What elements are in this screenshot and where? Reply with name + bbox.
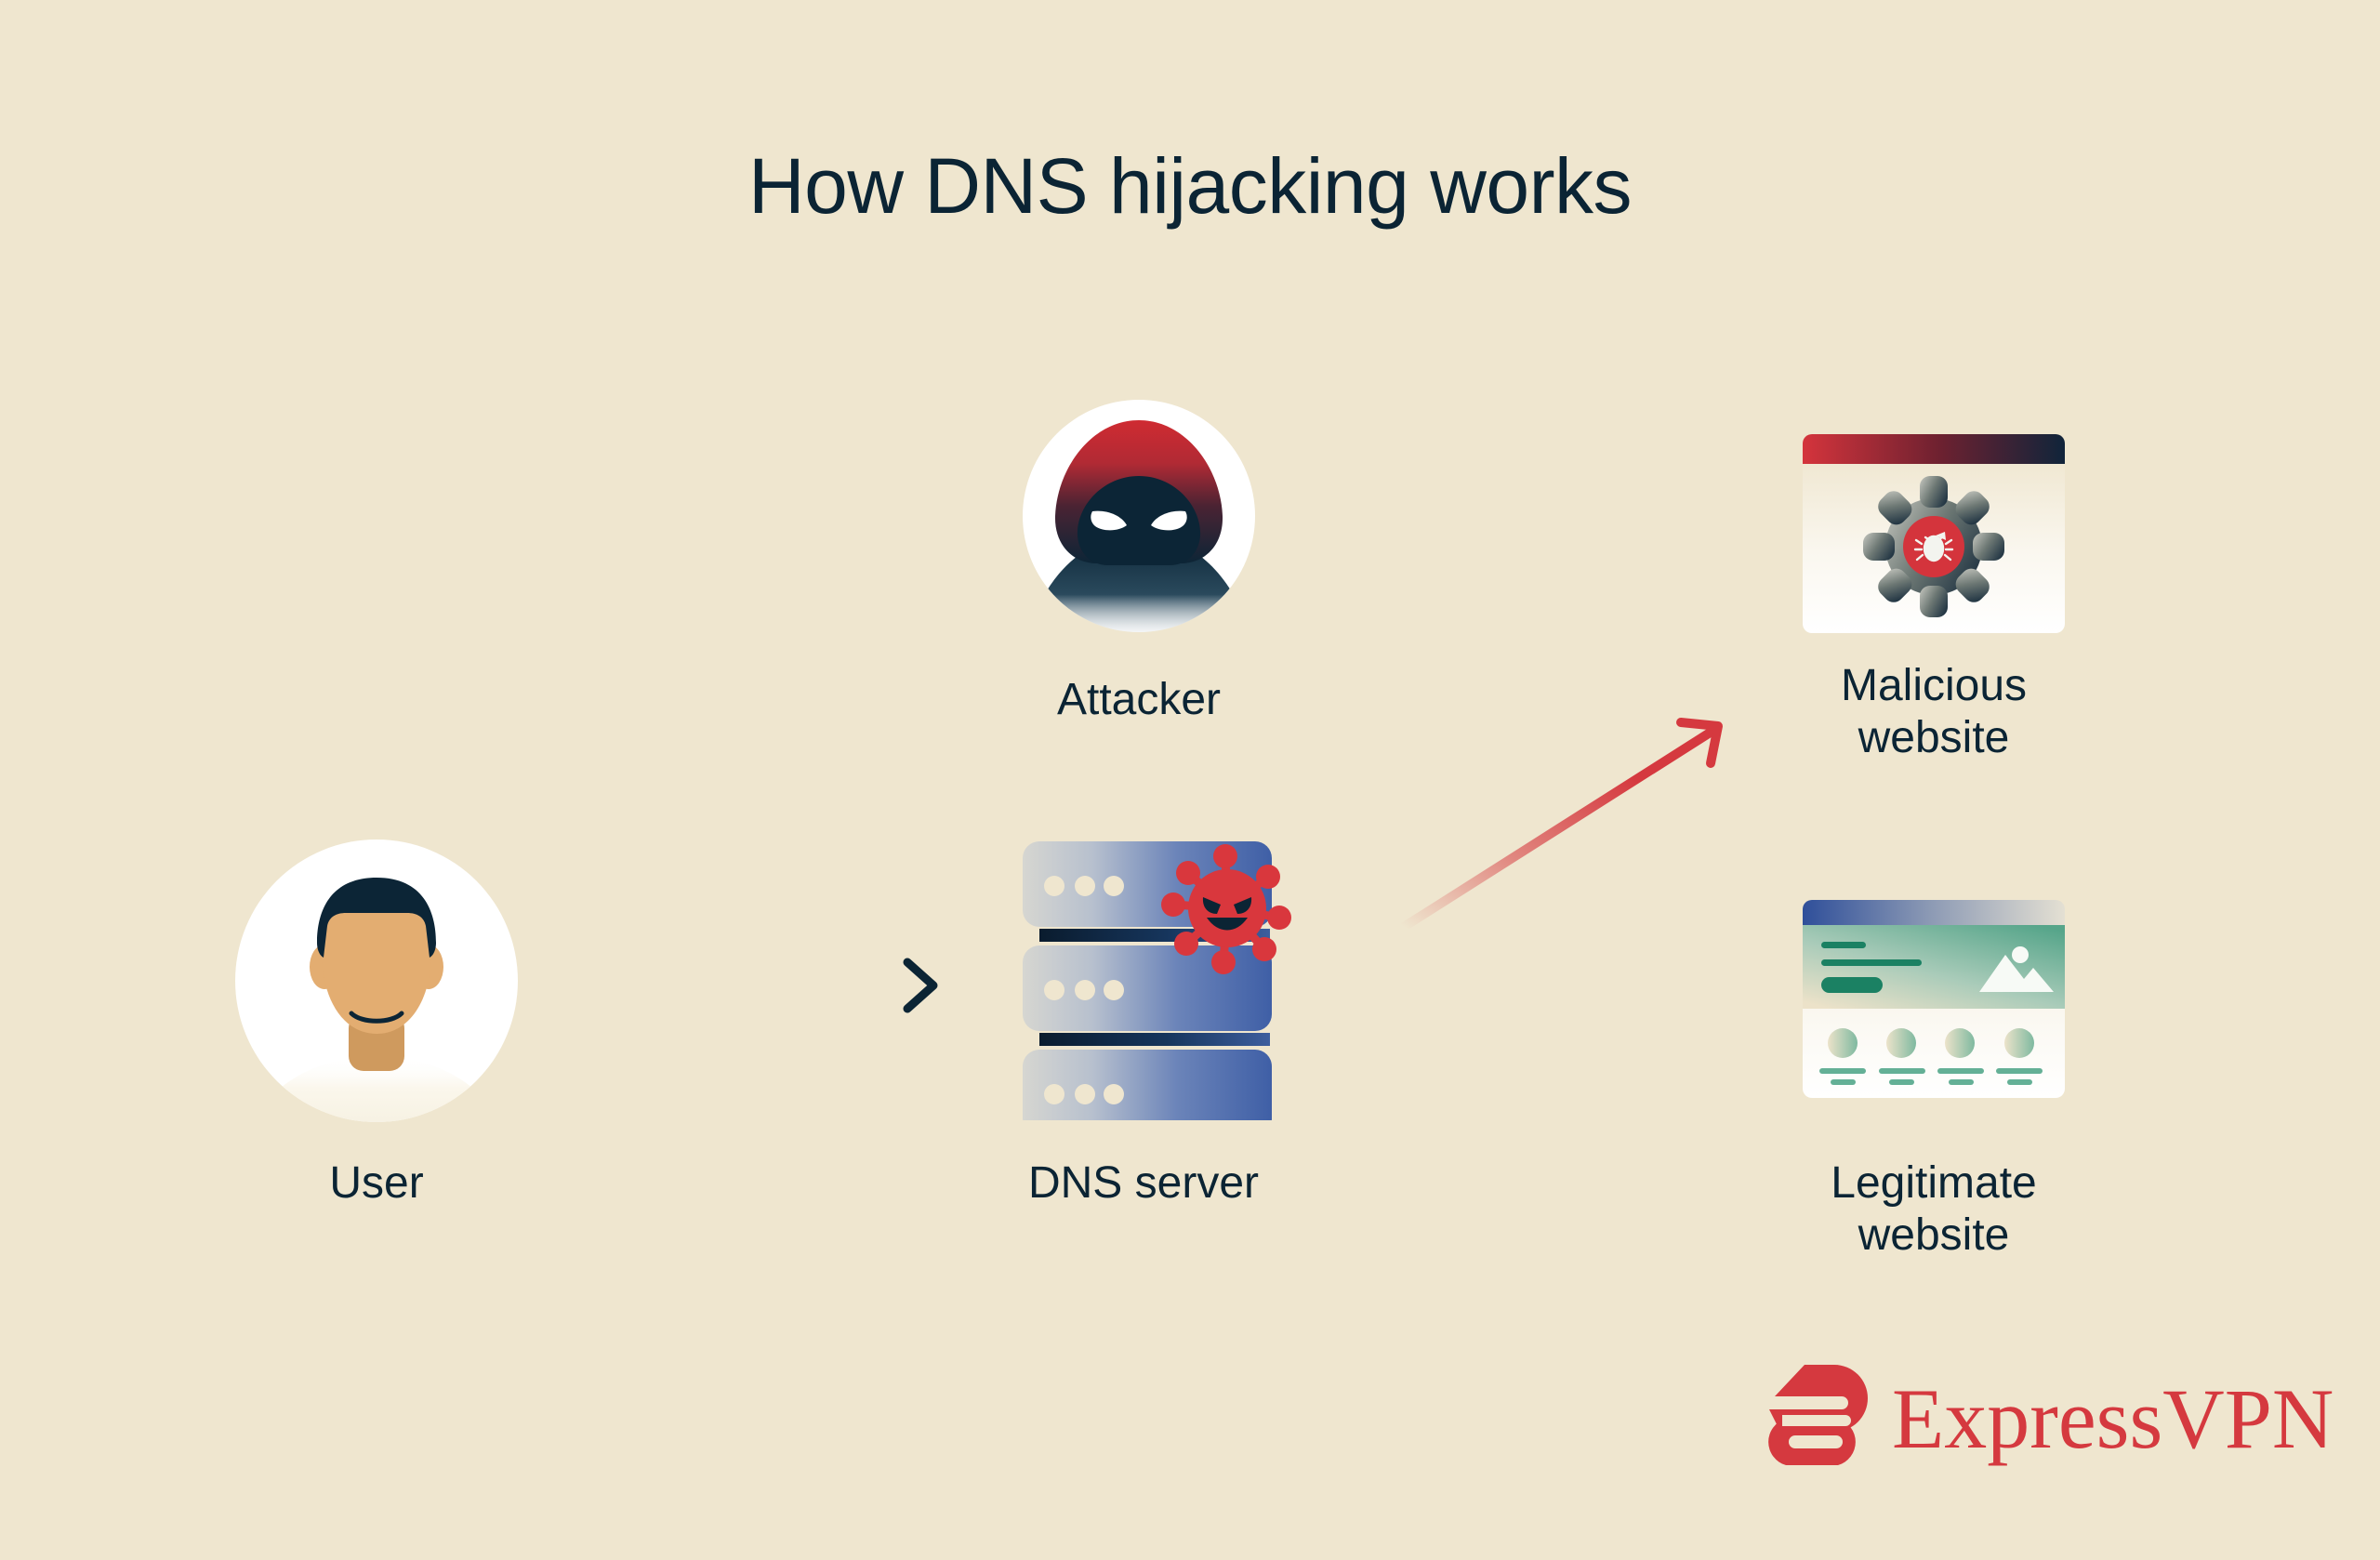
dns-to-legitimate-dashed-line [1339,967,1739,1023]
user-node [232,837,521,1125]
legitimate-website-card-icon [1790,888,2078,1111]
malicious-website-label: Malicious website [1748,660,2120,764]
dns-server-node [1013,823,1320,1120]
infographic-canvas: How DNS hijacking works [0,0,2380,1560]
page-title: How DNS hijacking works [0,141,2380,231]
user-label: User [214,1157,539,1210]
server-stack-infected-icon [1013,823,1320,1120]
user-avatar-icon [232,837,521,1125]
legitimate-website-label: Legitimate website [1729,1157,2138,1262]
dns-to-malicious-arrow [1367,693,1766,962]
expressvpn-wordmark: ExpressVPN [1892,1369,2334,1468]
hooded-attacker-icon [1013,390,1264,641]
expressvpn-e-mark-icon [1762,1357,1878,1469]
attacker-label: Attacker [930,674,1348,726]
legitimate-website-node [1790,888,2078,1111]
malicious-website-node [1790,423,2078,646]
attacker-node [1013,390,1264,641]
user-to-dns-arrow [623,944,948,1027]
expressvpn-logo: ExpressVPN [1762,1353,2194,1474]
dns-server-label: DNS server [892,1157,1395,1210]
gear-icon [1863,476,2004,617]
malicious-website-card-icon [1790,423,2078,646]
